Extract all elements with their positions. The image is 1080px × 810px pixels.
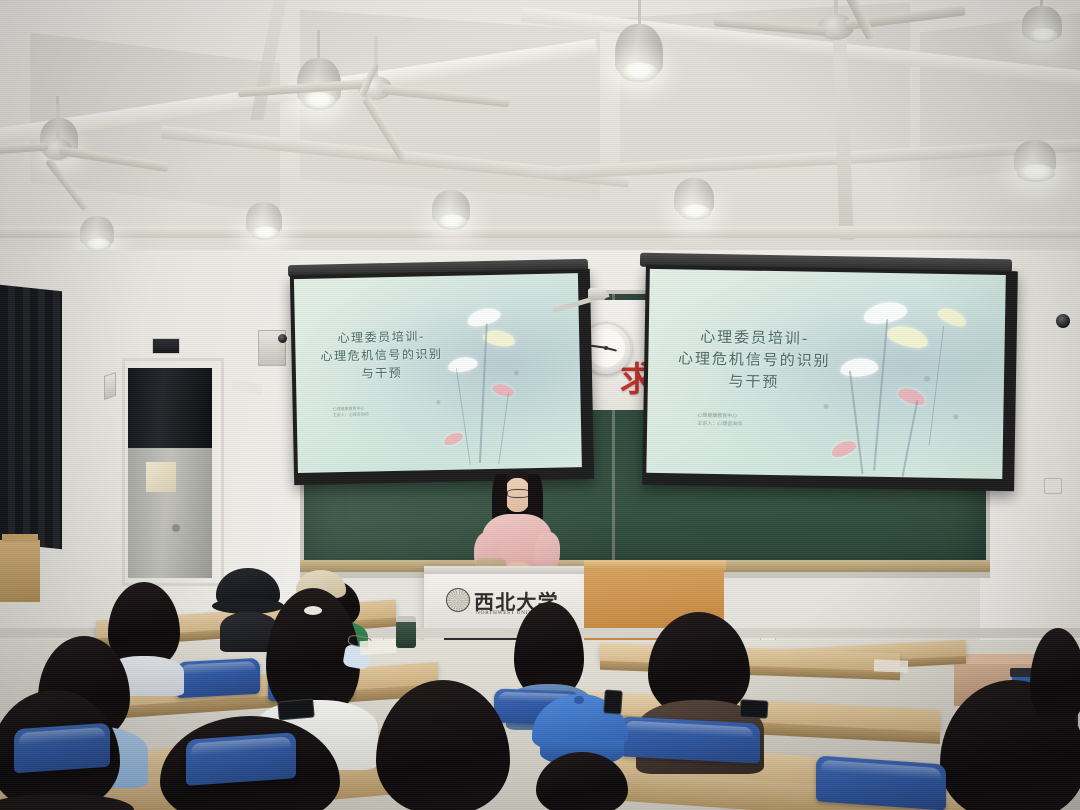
- door-window: [146, 462, 176, 492]
- chair-row1-c[interactable]: [816, 755, 946, 810]
- lamp-glow-9: [1017, 164, 1055, 182]
- left-slide-subtitle: 心理健康教育中心 主讲人：心理咨询师: [333, 406, 369, 420]
- lamp-glow-7: [437, 214, 467, 230]
- fan-rod-1: [56, 104, 60, 140]
- left-slide: 心理委员培训- 心理危机信号的识别 与干预 心理健康教育中心 主讲人：心理咨询师: [294, 273, 582, 473]
- ceiling-trim-front: [0, 226, 1080, 238]
- lamp-glow-4: [1028, 28, 1058, 43]
- paper-on-desk[interactable]: [360, 639, 397, 655]
- wall-outlet-right[interactable]: [1044, 478, 1062, 494]
- right-slide: 心理委员培训- 心理危机信号的识别 与干预 心理健康教育中心 主讲人：心理咨询师: [646, 269, 1006, 479]
- student-blue-cap: [524, 694, 640, 810]
- lecture-hall-photo: 谨 求 心理委员培训- 心理危机信号的识别: [0, 0, 1080, 810]
- student-fg-left-body: [0, 794, 134, 810]
- lamp-rod-2: [317, 30, 320, 60]
- right-slide-bud-2: [823, 404, 828, 409]
- ceiling-camera-dome: [1056, 314, 1070, 328]
- left-slide-subtitle-line2: 主讲人：心理咨询师: [333, 412, 369, 419]
- presenter-glasses: [507, 489, 530, 498]
- chair-row1-b-highlight: [191, 737, 291, 756]
- ceiling-camera-dome-left: [278, 334, 287, 343]
- wall-speaker-left: [104, 372, 116, 400]
- left-slide-title-line3: 与干预: [306, 363, 458, 384]
- right-slide-subtitle: 心理健康教育中心 主讲人：心理咨询师: [697, 412, 742, 429]
- side-stool-back: [2, 534, 38, 542]
- student-mid-foreground: [376, 680, 516, 810]
- right-projection-screen: 心理委员培训- 心理危机信号的识别 与干预 心理健康教育中心 主讲人：心理咨询师: [642, 265, 1018, 491]
- chair-row2-a-highlight: [180, 661, 256, 675]
- left-window-curtain: [0, 285, 62, 550]
- phone-on-desk-right[interactable]: [740, 699, 769, 718]
- phone-on-desk-left[interactable]: [277, 698, 315, 720]
- chair-row1-c-highlight: [821, 760, 941, 780]
- blue-cap-button: [574, 696, 584, 704]
- left-slide-bud-1: [514, 370, 519, 375]
- door-curtain: [128, 368, 212, 450]
- right-slide-bud-3: [953, 414, 958, 419]
- lectern-wood-top: [584, 560, 726, 570]
- student-right-edge-hair: [1030, 628, 1080, 724]
- student-mid-fg-hair: [376, 680, 510, 810]
- left-slide-bud-2: [436, 400, 440, 404]
- left-slide-title: 心理委员培训- 心理危机信号的识别 与干预: [305, 328, 458, 384]
- left-projection-screen: 心理委员培训- 心理危机信号的识别 与干预 心理健康教育中心 主讲人：心理咨询师: [290, 269, 594, 485]
- phone-on-desk-center[interactable]: [603, 689, 623, 714]
- chair-row2-d[interactable]: [620, 716, 760, 763]
- chair-row2-d-highlight: [625, 721, 753, 739]
- clock-face: [587, 329, 625, 367]
- right-slide-bud-1: [924, 376, 930, 382]
- chair-row1-a[interactable]: [14, 723, 110, 774]
- travel-cup-lid: [396, 616, 416, 622]
- lamp-glow-6: [251, 226, 279, 240]
- right-slide-subtitle-line2: 主讲人：心理咨询师: [697, 420, 742, 429]
- chair-row1-b[interactable]: [186, 732, 296, 786]
- side-stool: [0, 540, 40, 602]
- right-slide-title-line2: 心理危机信号的识别: [656, 347, 852, 373]
- left-slide-title-line2: 心理危机信号的识别: [305, 345, 457, 366]
- student-right-edge: [1030, 628, 1080, 748]
- university-seal: [446, 588, 470, 612]
- chair-row1-a-highlight: [19, 727, 105, 745]
- lamp-glow-8: [679, 204, 711, 220]
- lamp-glow-3: [620, 62, 658, 82]
- clock-center-pin: [604, 346, 608, 350]
- travel-cup[interactable]: [396, 620, 416, 648]
- projector-bracket: [588, 288, 606, 300]
- student-white-hair-tie: [304, 606, 322, 615]
- lamp-glow-2: [302, 92, 336, 110]
- paper-on-desk-right[interactable]: [874, 659, 908, 672]
- podium-top: [424, 566, 584, 574]
- door-sign-plate: [152, 338, 180, 354]
- right-slide-title: 心理委员培训- 心理危机信号的识别 与干预: [656, 325, 853, 395]
- right-slide-title-line3: 与干预: [656, 369, 852, 395]
- door-handle[interactable]: [172, 524, 180, 532]
